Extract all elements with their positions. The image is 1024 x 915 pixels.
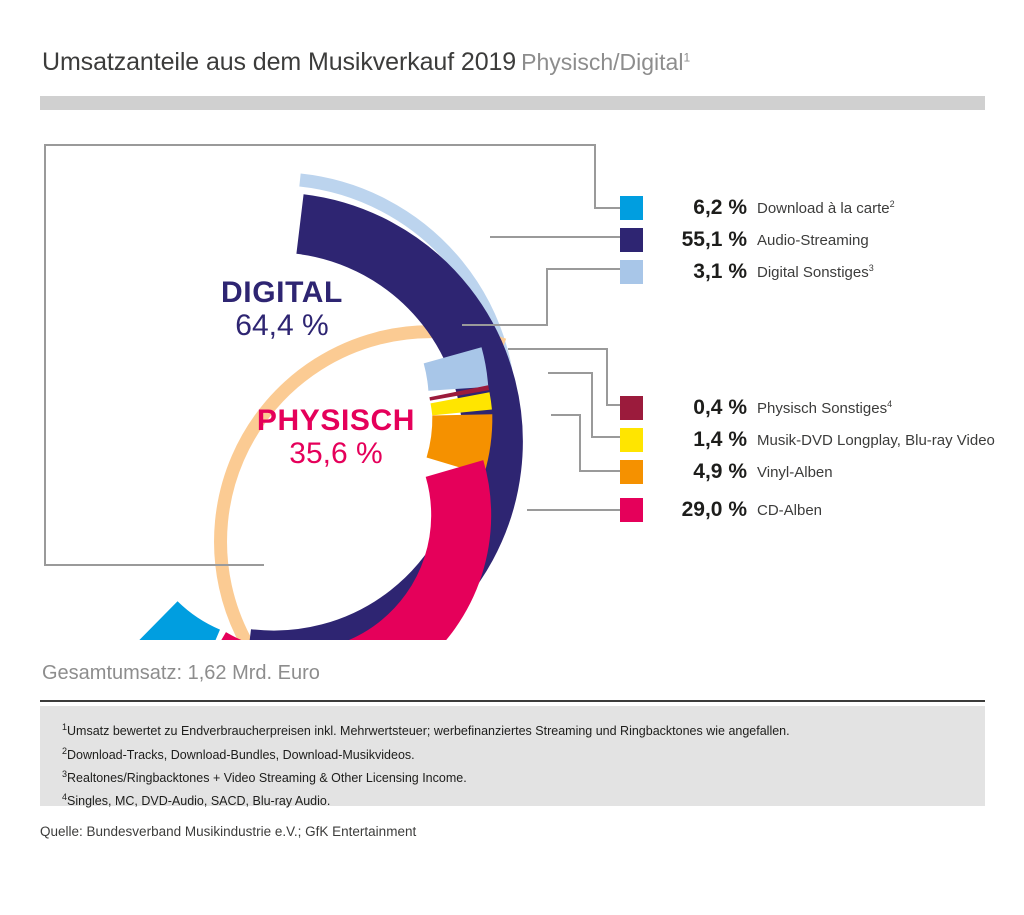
legend-label-physisch-sonstiges: Physisch Sonstiges4 <box>757 399 892 417</box>
legend-label-audio-streaming: Audio-Streaming <box>757 231 869 249</box>
legend-item-vinyl-alben[interactable]: 4,9 % Vinyl-Alben <box>620 460 833 484</box>
page-title-footnote-marker: 1 <box>683 50 690 64</box>
legend-label-text: Musik-DVD Longplay, Blu-ray Video <box>757 432 995 449</box>
segment-digital-sonstiges <box>453 355 459 389</box>
footnote-4-text: Singles, MC, DVD-Audio, SACD, Blu-ray Au… <box>67 794 330 808</box>
legend-pct-physisch-sonstiges: 0,4 % <box>655 396 747 420</box>
segment-cd-alben <box>211 469 461 641</box>
legend-label-text: Vinyl-Alben <box>757 464 833 481</box>
legend-swatch-download-a-la-carte <box>620 196 643 220</box>
legend-label-digital-sonstiges: Digital Sonstiges3 <box>757 263 874 281</box>
legend-item-digital-sonstiges[interactable]: 3,1 % Digital Sonstiges3 <box>620 260 874 284</box>
page-title-subtitle: Physisch/Digital1 <box>521 49 690 75</box>
total-revenue-label: Gesamtumsatz: 1,62 Mrd. Euro <box>42 662 320 685</box>
legend-pct-musik-dvd: 1,4 % <box>655 428 747 452</box>
header-divider-bar <box>40 96 985 110</box>
legend-label-vinyl-alben: Vinyl-Alben <box>757 463 833 481</box>
legend-label-footnote: 2 <box>890 199 895 209</box>
legend-swatch-digital-sonstiges <box>620 260 643 284</box>
segment-musik-dvd <box>460 398 462 413</box>
page-title: Umsatzanteile aus dem Musikverkauf 2019P… <box>42 48 690 77</box>
leader-physisch-sonstiges <box>508 349 620 405</box>
segment-physisch-sonstiges <box>459 391 460 395</box>
footnote-2: 2Download-Tracks, Download-Bundles, Down… <box>62 746 415 762</box>
legend-label-text: Digital Sonstiges <box>757 264 869 281</box>
center-label-digital-name: DIGITAL <box>172 278 392 308</box>
legend-swatch-physisch-sonstiges <box>620 396 643 420</box>
legend-pct-vinyl-alben: 4,9 % <box>655 460 747 484</box>
legend-pct-digital-sonstiges: 3,1 % <box>655 260 747 284</box>
legend-label-cd-alben: CD-Alben <box>757 501 822 519</box>
legend-item-physisch-sonstiges[interactable]: 0,4 % Physisch Sonstiges4 <box>620 396 892 420</box>
segment-download-a-la-carte <box>157 623 209 640</box>
legend-item-audio-streaming[interactable]: 55,1 % Audio-Streaming <box>620 228 869 252</box>
center-label-physisch-value: 35,6 % <box>216 439 456 469</box>
legend-label-musik-dvd: Musik-DVD Longplay, Blu-ray Video <box>757 431 995 449</box>
legend-label-download-a-la-carte: Download à la carte2 <box>757 199 895 217</box>
legend-swatch-audio-streaming <box>620 228 643 252</box>
source-attribution: Quelle: Bundesverband Musikindustrie e.V… <box>40 824 416 839</box>
legend-label-footnote: 4 <box>887 399 892 409</box>
legend-label-text: Download à la carte <box>757 200 890 217</box>
footer-divider-rule <box>40 700 985 702</box>
center-label-digital: DIGITAL 64,4 % <box>172 278 392 341</box>
infographic-page: Umsatzanteile aus dem Musikverkauf 2019P… <box>0 0 1024 915</box>
page-title-main: Umsatzanteile aus dem Musikverkauf 2019 <box>42 48 516 76</box>
legend-item-musik-dvd[interactable]: 1,4 % Musik-DVD Longplay, Blu-ray Video <box>620 428 995 452</box>
footnote-3: 3Realtones/Ringbacktones + Video Streami… <box>62 769 467 785</box>
legend-swatch-vinyl-alben <box>620 460 643 484</box>
footnote-2-text: Download-Tracks, Download-Bundles, Downl… <box>67 748 415 762</box>
legend-item-cd-alben[interactable]: 29,0 % CD-Alben <box>620 498 822 522</box>
legend-label-footnote: 3 <box>869 263 874 273</box>
center-label-digital-value: 64,4 % <box>172 311 392 341</box>
legend-swatch-musik-dvd <box>620 428 643 452</box>
legend-pct-download-a-la-carte: 6,2 % <box>655 196 747 220</box>
legend-pct-audio-streaming: 55,1 % <box>655 228 747 252</box>
center-label-physisch: PHYSISCH 35,6 % <box>216 406 456 469</box>
legend-pct-cd-alben: 29,0 % <box>655 498 747 522</box>
legend-label-text: Physisch Sonstiges <box>757 400 887 417</box>
leader-vinyl-alben <box>551 415 620 471</box>
page-title-subtitle-text: Physisch/Digital <box>521 49 683 75</box>
chart-area: DIGITAL 64,4 % PHYSISCH 35,6 % 6,2 % Dow… <box>0 120 1024 640</box>
center-label-physisch-name: PHYSISCH <box>216 406 456 436</box>
legend-item-download-a-la-carte[interactable]: 6,2 % Download à la carte2 <box>620 196 895 220</box>
footnote-1-text: Umsatz bewertet zu Endverbraucherpreisen… <box>67 724 790 738</box>
segment-vinyl-alben <box>455 415 462 466</box>
footnote-1: 1Umsatz bewertet zu Endverbraucherpreise… <box>62 722 790 738</box>
footnotes-box: 1Umsatz bewertet zu Endverbraucherpreise… <box>40 706 985 806</box>
legend-label-text: CD-Alben <box>757 502 822 519</box>
footnote-4: 4Singles, MC, DVD-Audio, SACD, Blu-ray A… <box>62 792 330 808</box>
legend-label-text: Audio-Streaming <box>757 232 869 249</box>
legend-swatch-cd-alben <box>620 498 643 522</box>
footnote-3-text: Realtones/Ringbacktones + Video Streamin… <box>67 771 467 785</box>
